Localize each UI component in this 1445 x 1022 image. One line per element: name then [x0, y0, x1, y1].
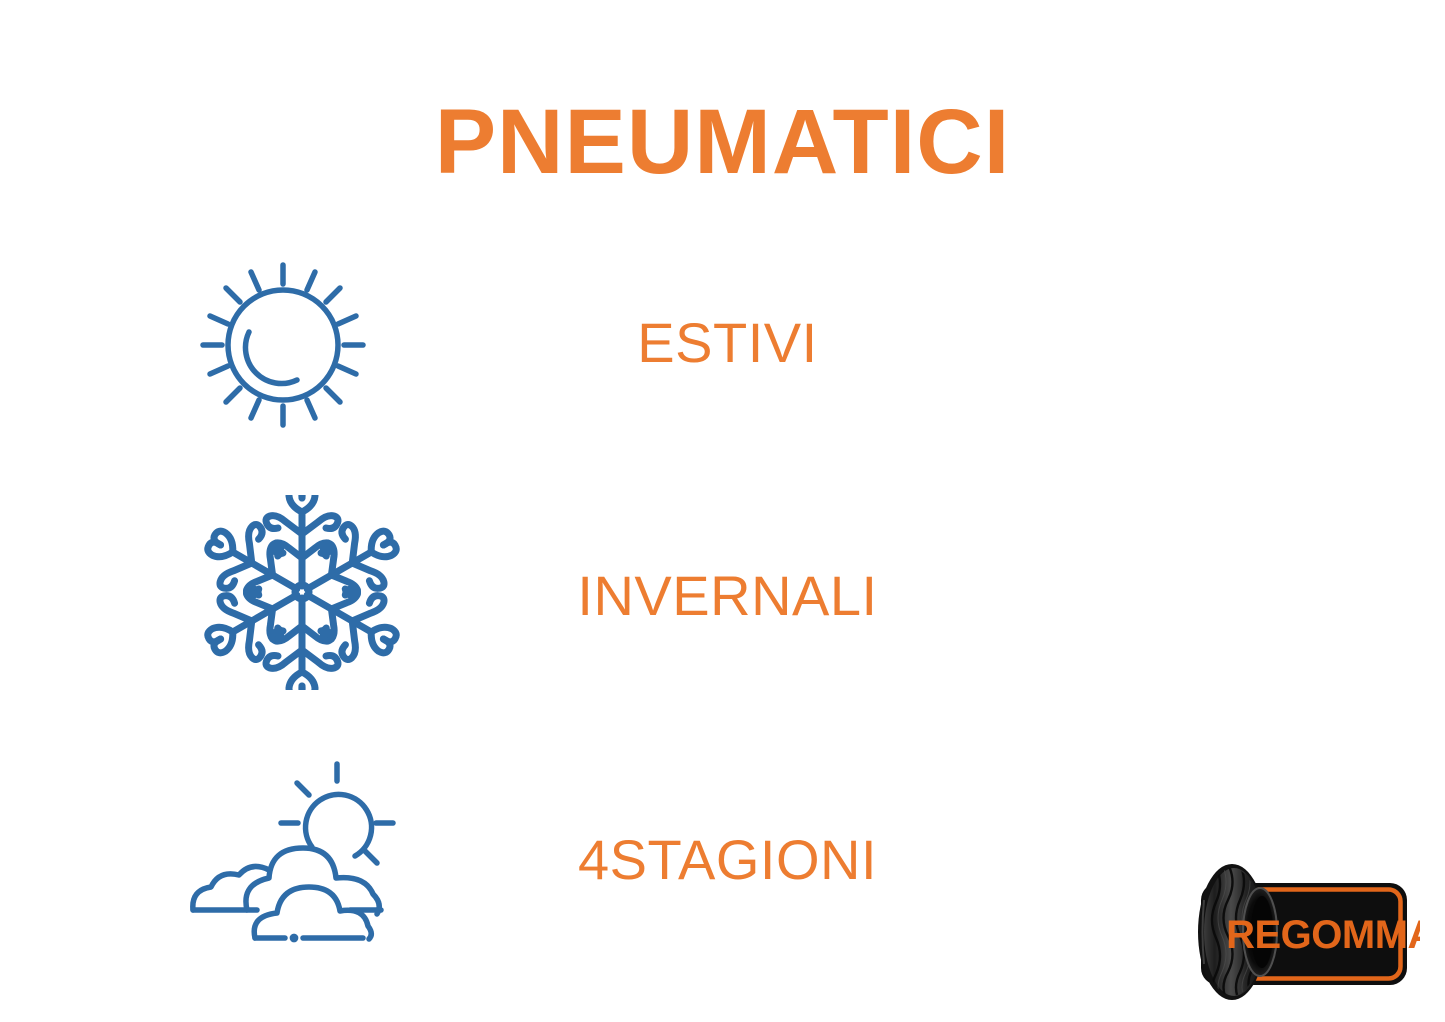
- tire-type-label-invernali: INVERNALI: [440, 563, 1015, 628]
- regomma-logo[interactable]: REGOMMA: [1188, 856, 1420, 1008]
- page-title: PNEUMATICI: [0, 96, 1445, 188]
- sun-icon: [185, 248, 415, 443]
- snowflake-icon: [185, 495, 415, 690]
- tire-type-label-estivi: ESTIVI: [440, 310, 1015, 375]
- brand-name: REGOMMA: [1226, 913, 1420, 957]
- tire-type-row-invernali: INVERNALI: [0, 495, 1445, 695]
- tire-type-label-4stagioni: 4STAGIONI: [440, 827, 1015, 892]
- sun-behind-clouds-icon: [185, 755, 415, 950]
- tire-type-row-estivi: ESTIVI: [0, 248, 1445, 448]
